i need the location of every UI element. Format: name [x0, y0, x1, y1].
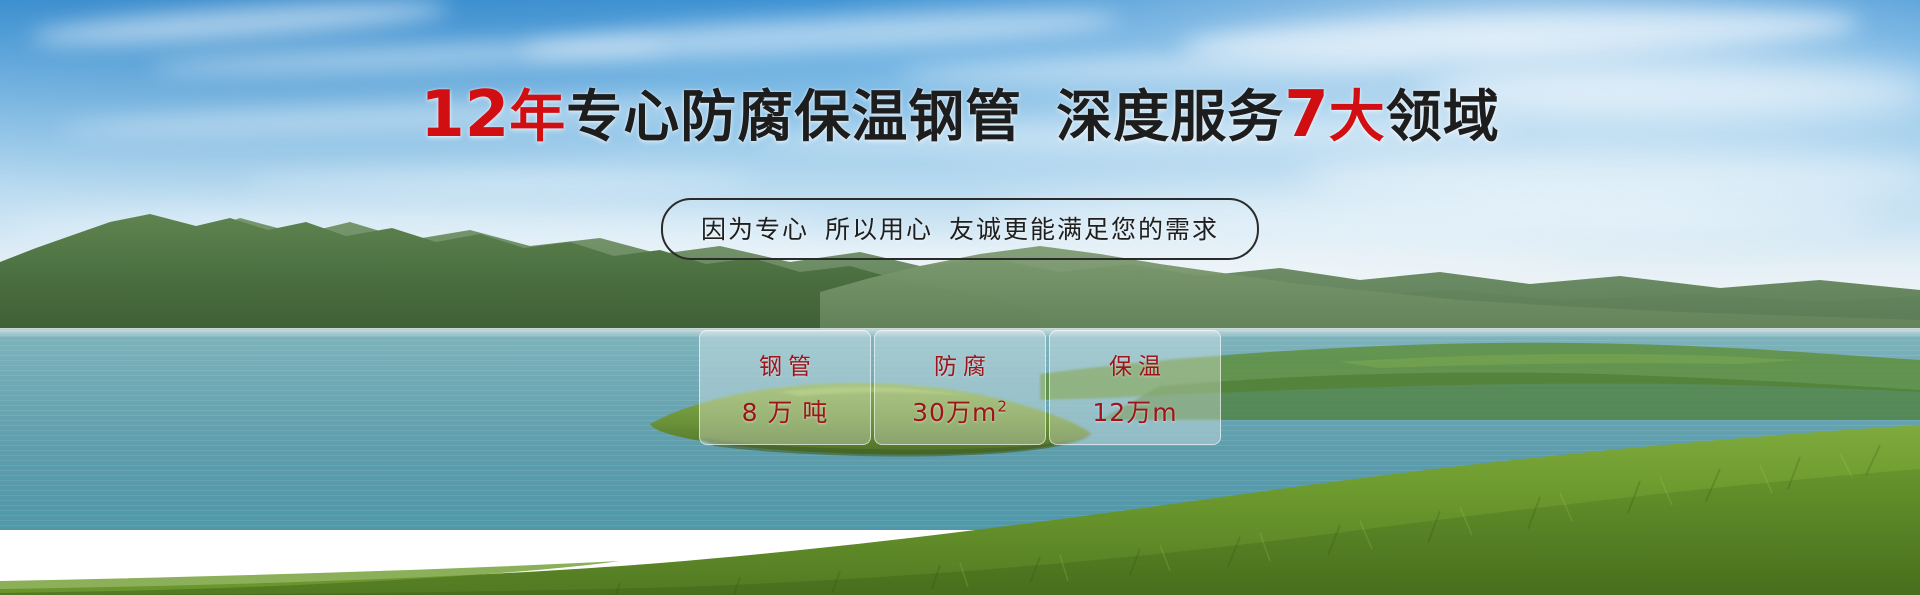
- stat-card-anticorrosion: 防腐 30万m2: [874, 330, 1046, 445]
- subtitle-part-2: 所以用心: [825, 215, 933, 244]
- subtitle-pill: 因为专心所以用心友诚更能满足您的需求: [661, 198, 1259, 260]
- stat-value-main: 12万m: [1092, 398, 1177, 427]
- headline-years-number: 12: [420, 78, 509, 152]
- stat-value: 8 万 吨: [742, 393, 829, 429]
- stat-card-steel-pipe: 钢管 8 万 吨: [699, 330, 871, 445]
- stat-value: 12万m: [1092, 393, 1177, 429]
- subtitle-part-3: 友诚更能满足您的需求: [949, 215, 1219, 244]
- hero-banner: 12年专心防腐保温钢管深度服务7大领域 因为专心所以用心友诚更能满足您的需求 钢…: [0, 0, 1920, 595]
- stat-card-group: 钢管 8 万 吨 防腐 30万m2 保温 12万m: [699, 330, 1221, 445]
- headline-years-unit: 年: [509, 85, 566, 150]
- headline-main-text: 专心防腐保温钢管: [566, 85, 1022, 150]
- headline-fields-text: 领域: [1386, 85, 1500, 150]
- stat-value-main: 30万m: [912, 398, 997, 427]
- stat-label: 保温: [1103, 347, 1167, 381]
- headline-service-text: 深度服务: [1056, 85, 1284, 150]
- stat-value: 30万m2: [912, 393, 1008, 429]
- stat-card-insulation: 保温 12万m: [1049, 330, 1221, 445]
- stat-value-superscript: 2: [997, 397, 1008, 415]
- banner-content: 12年专心防腐保温钢管深度服务7大领域 因为专心所以用心友诚更能满足您的需求 钢…: [0, 0, 1920, 595]
- headline-seven-unit: 大: [1329, 85, 1386, 150]
- subtitle-part-1: 因为专心: [701, 215, 809, 244]
- stat-label: 钢管: [753, 347, 817, 381]
- banner-headline: 12年专心防腐保温钢管深度服务7大领域: [0, 84, 1920, 149]
- stat-value-main: 8 万 吨: [742, 398, 829, 427]
- stat-label: 防腐: [928, 347, 992, 381]
- headline-seven-number: 7: [1284, 78, 1329, 152]
